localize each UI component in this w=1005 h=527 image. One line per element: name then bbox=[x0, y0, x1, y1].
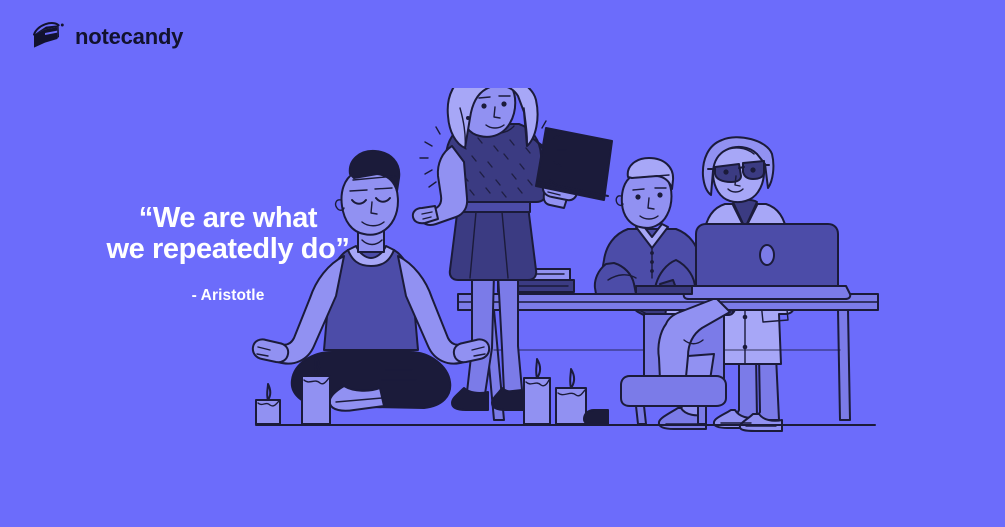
candle bbox=[584, 410, 608, 424]
people-studying-and-working-illustration: .o { stroke:#1B1B3A; stroke-width:2; str… bbox=[236, 88, 916, 433]
seated-man-with-laptop bbox=[595, 158, 850, 429]
brand-logo-text: notecandy bbox=[75, 26, 183, 48]
tablet bbox=[536, 128, 612, 200]
candle bbox=[556, 369, 586, 424]
notecandy-box-logo-icon bbox=[32, 22, 66, 52]
candle bbox=[256, 384, 280, 424]
candle bbox=[524, 359, 550, 424]
brand-logo[interactable]: notecandy bbox=[32, 22, 183, 52]
page-canvas: notecandy “We are what we repeatedly do”… bbox=[0, 0, 1005, 527]
